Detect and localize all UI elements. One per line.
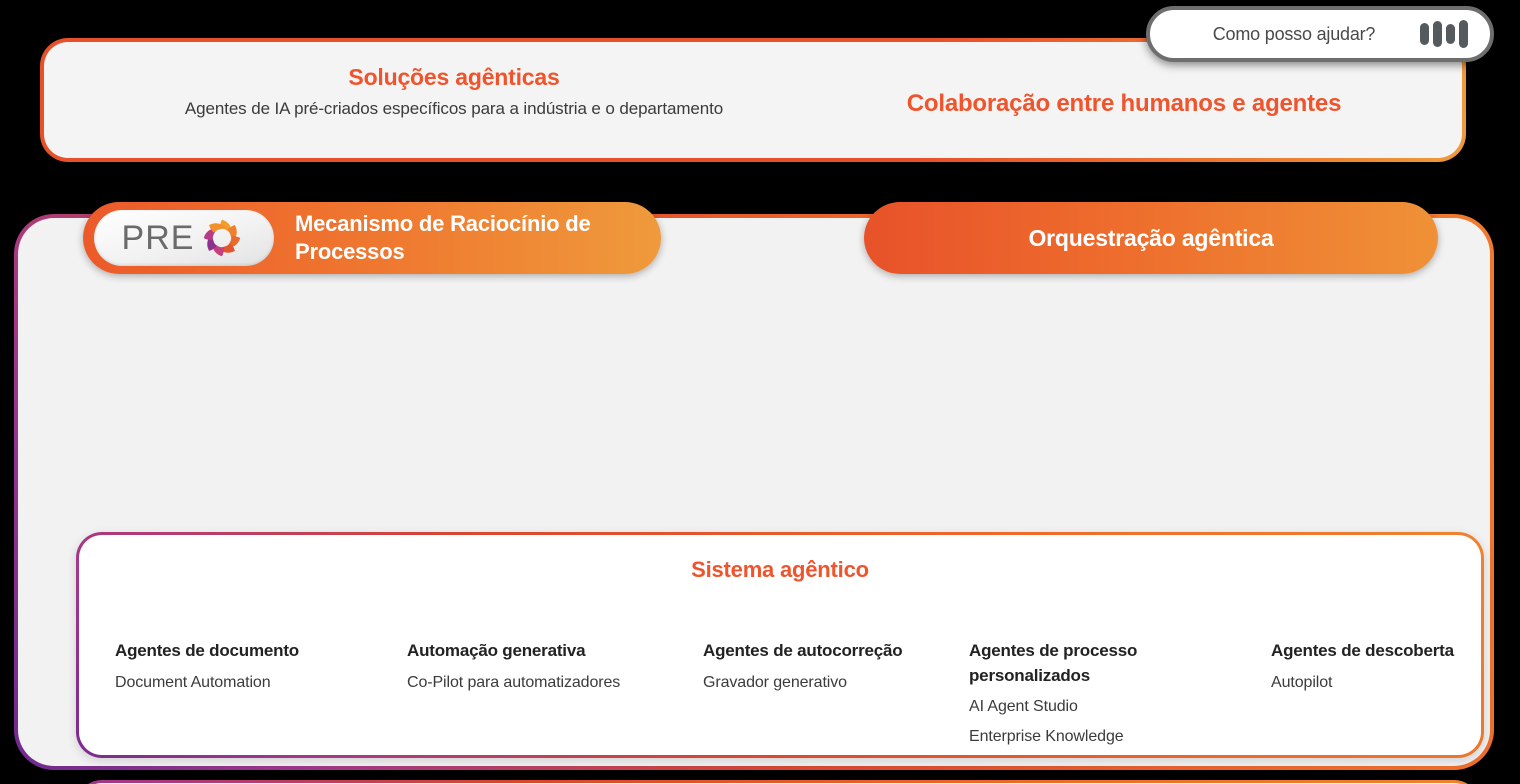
agentic-system-card: Sistema agêntico Agentes de documento Do… bbox=[76, 532, 1484, 758]
column-heading: Agentes de processo personalizados bbox=[969, 639, 1199, 688]
column-item: Autopilot bbox=[1271, 668, 1461, 698]
agentic-column-process: Agentes de processo personalizados AI Ag… bbox=[969, 639, 1199, 751]
column-heading: Automação generativa bbox=[407, 639, 647, 664]
column-item: AI Agent Studio bbox=[969, 692, 1199, 722]
column-heading: Agentes de descoberta bbox=[1271, 639, 1461, 664]
agentic-solutions-title: Soluções agênticas bbox=[154, 64, 754, 91]
agentic-solutions-subtitle: Agentes de IA pré-criados específicos pa… bbox=[154, 97, 754, 122]
agentic-system-title: Sistema agêntico bbox=[79, 557, 1481, 583]
platform-container: Sistema agêntico Agentes de documento Do… bbox=[14, 214, 1494, 770]
agentic-column-generative: Automação generativa Co-Pilot para autom… bbox=[407, 639, 647, 697]
automation-system-card: Sistema de automação RPA API Serviços em… bbox=[76, 780, 1480, 784]
agentic-column-document: Agentes de documento Document Automation bbox=[115, 639, 365, 697]
assistant-chat-pill[interactable]: Como posso ajudar? bbox=[1146, 6, 1494, 62]
pinwheel-icon bbox=[198, 214, 246, 262]
agentic-solutions-block: Soluções agênticas Agentes de IA pré-cri… bbox=[154, 64, 754, 122]
pre-logo-badge: PRE bbox=[94, 210, 274, 266]
diagram-canvas: Sistema agêntico Agentes de documento Do… bbox=[0, 0, 1520, 784]
agentic-orchestration-label: Orquestração agêntica bbox=[1028, 225, 1273, 252]
column-item: Document Automation bbox=[115, 668, 365, 698]
process-reasoning-engine-pill[interactable]: PRE Mecanismo de Raciocínio de Processos bbox=[83, 202, 661, 274]
pre-pill-label: Mecanismo de Raciocínio de Processos bbox=[295, 210, 661, 266]
human-agent-collaboration-title: Colaboração entre humanos e agentes bbox=[804, 90, 1444, 118]
column-heading: Agentes de documento bbox=[115, 639, 365, 664]
agentic-orchestration-pill[interactable]: Orquestração agêntica bbox=[864, 202, 1438, 274]
column-item: Enterprise Knowledge bbox=[969, 722, 1199, 752]
waveform-icon[interactable] bbox=[1420, 19, 1490, 49]
assistant-prompt-text: Como posso ajudar? bbox=[1150, 24, 1420, 45]
pre-logo-text: PRE bbox=[122, 219, 195, 258]
column-heading: Agentes de autocorreção bbox=[703, 639, 918, 664]
column-item: Gravador generativo bbox=[703, 668, 918, 698]
agentic-column-discovery: Agentes de descoberta Autopilot bbox=[1271, 639, 1461, 697]
column-item: Co-Pilot para automatizadores bbox=[407, 668, 647, 698]
agentic-column-selfhealing: Agentes de autocorreção Gravador generat… bbox=[703, 639, 918, 697]
